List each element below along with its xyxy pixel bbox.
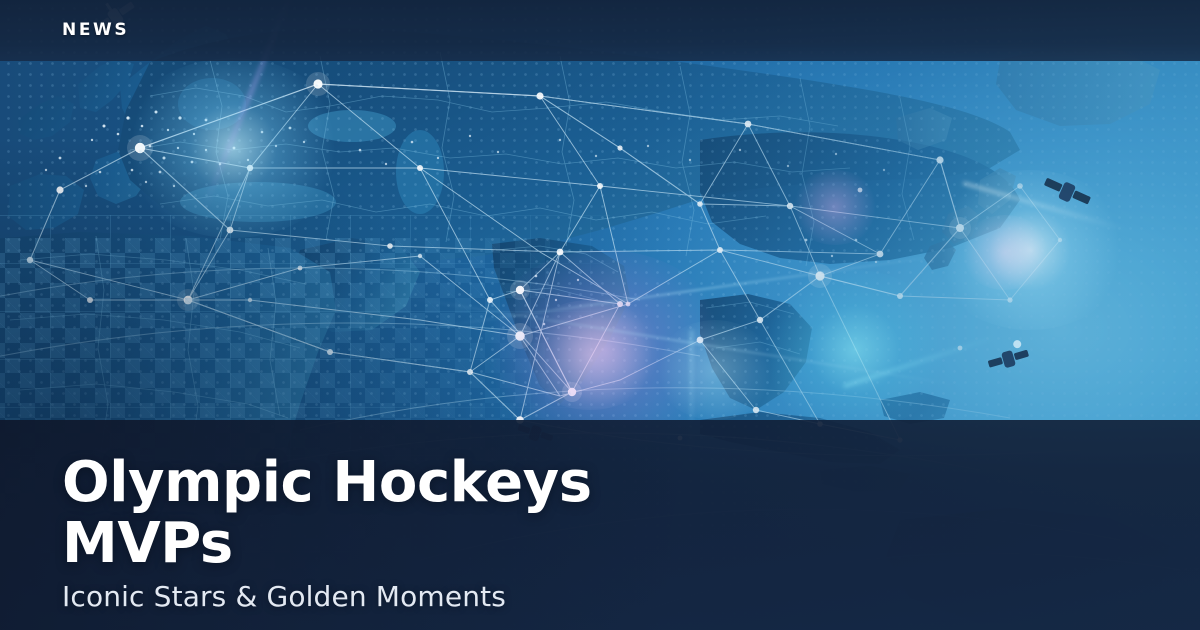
page-subtitle: Iconic Stars & Golden Moments: [62, 580, 962, 613]
page-title: Olympic Hockeys MVPs: [62, 452, 902, 575]
news-kicker-label: NEWS: [62, 22, 129, 39]
news-card: NEWS Olympic Hockeys MVPs Iconic Stars &…: [0, 0, 1200, 630]
top-band-overlay: [0, 0, 1200, 61]
